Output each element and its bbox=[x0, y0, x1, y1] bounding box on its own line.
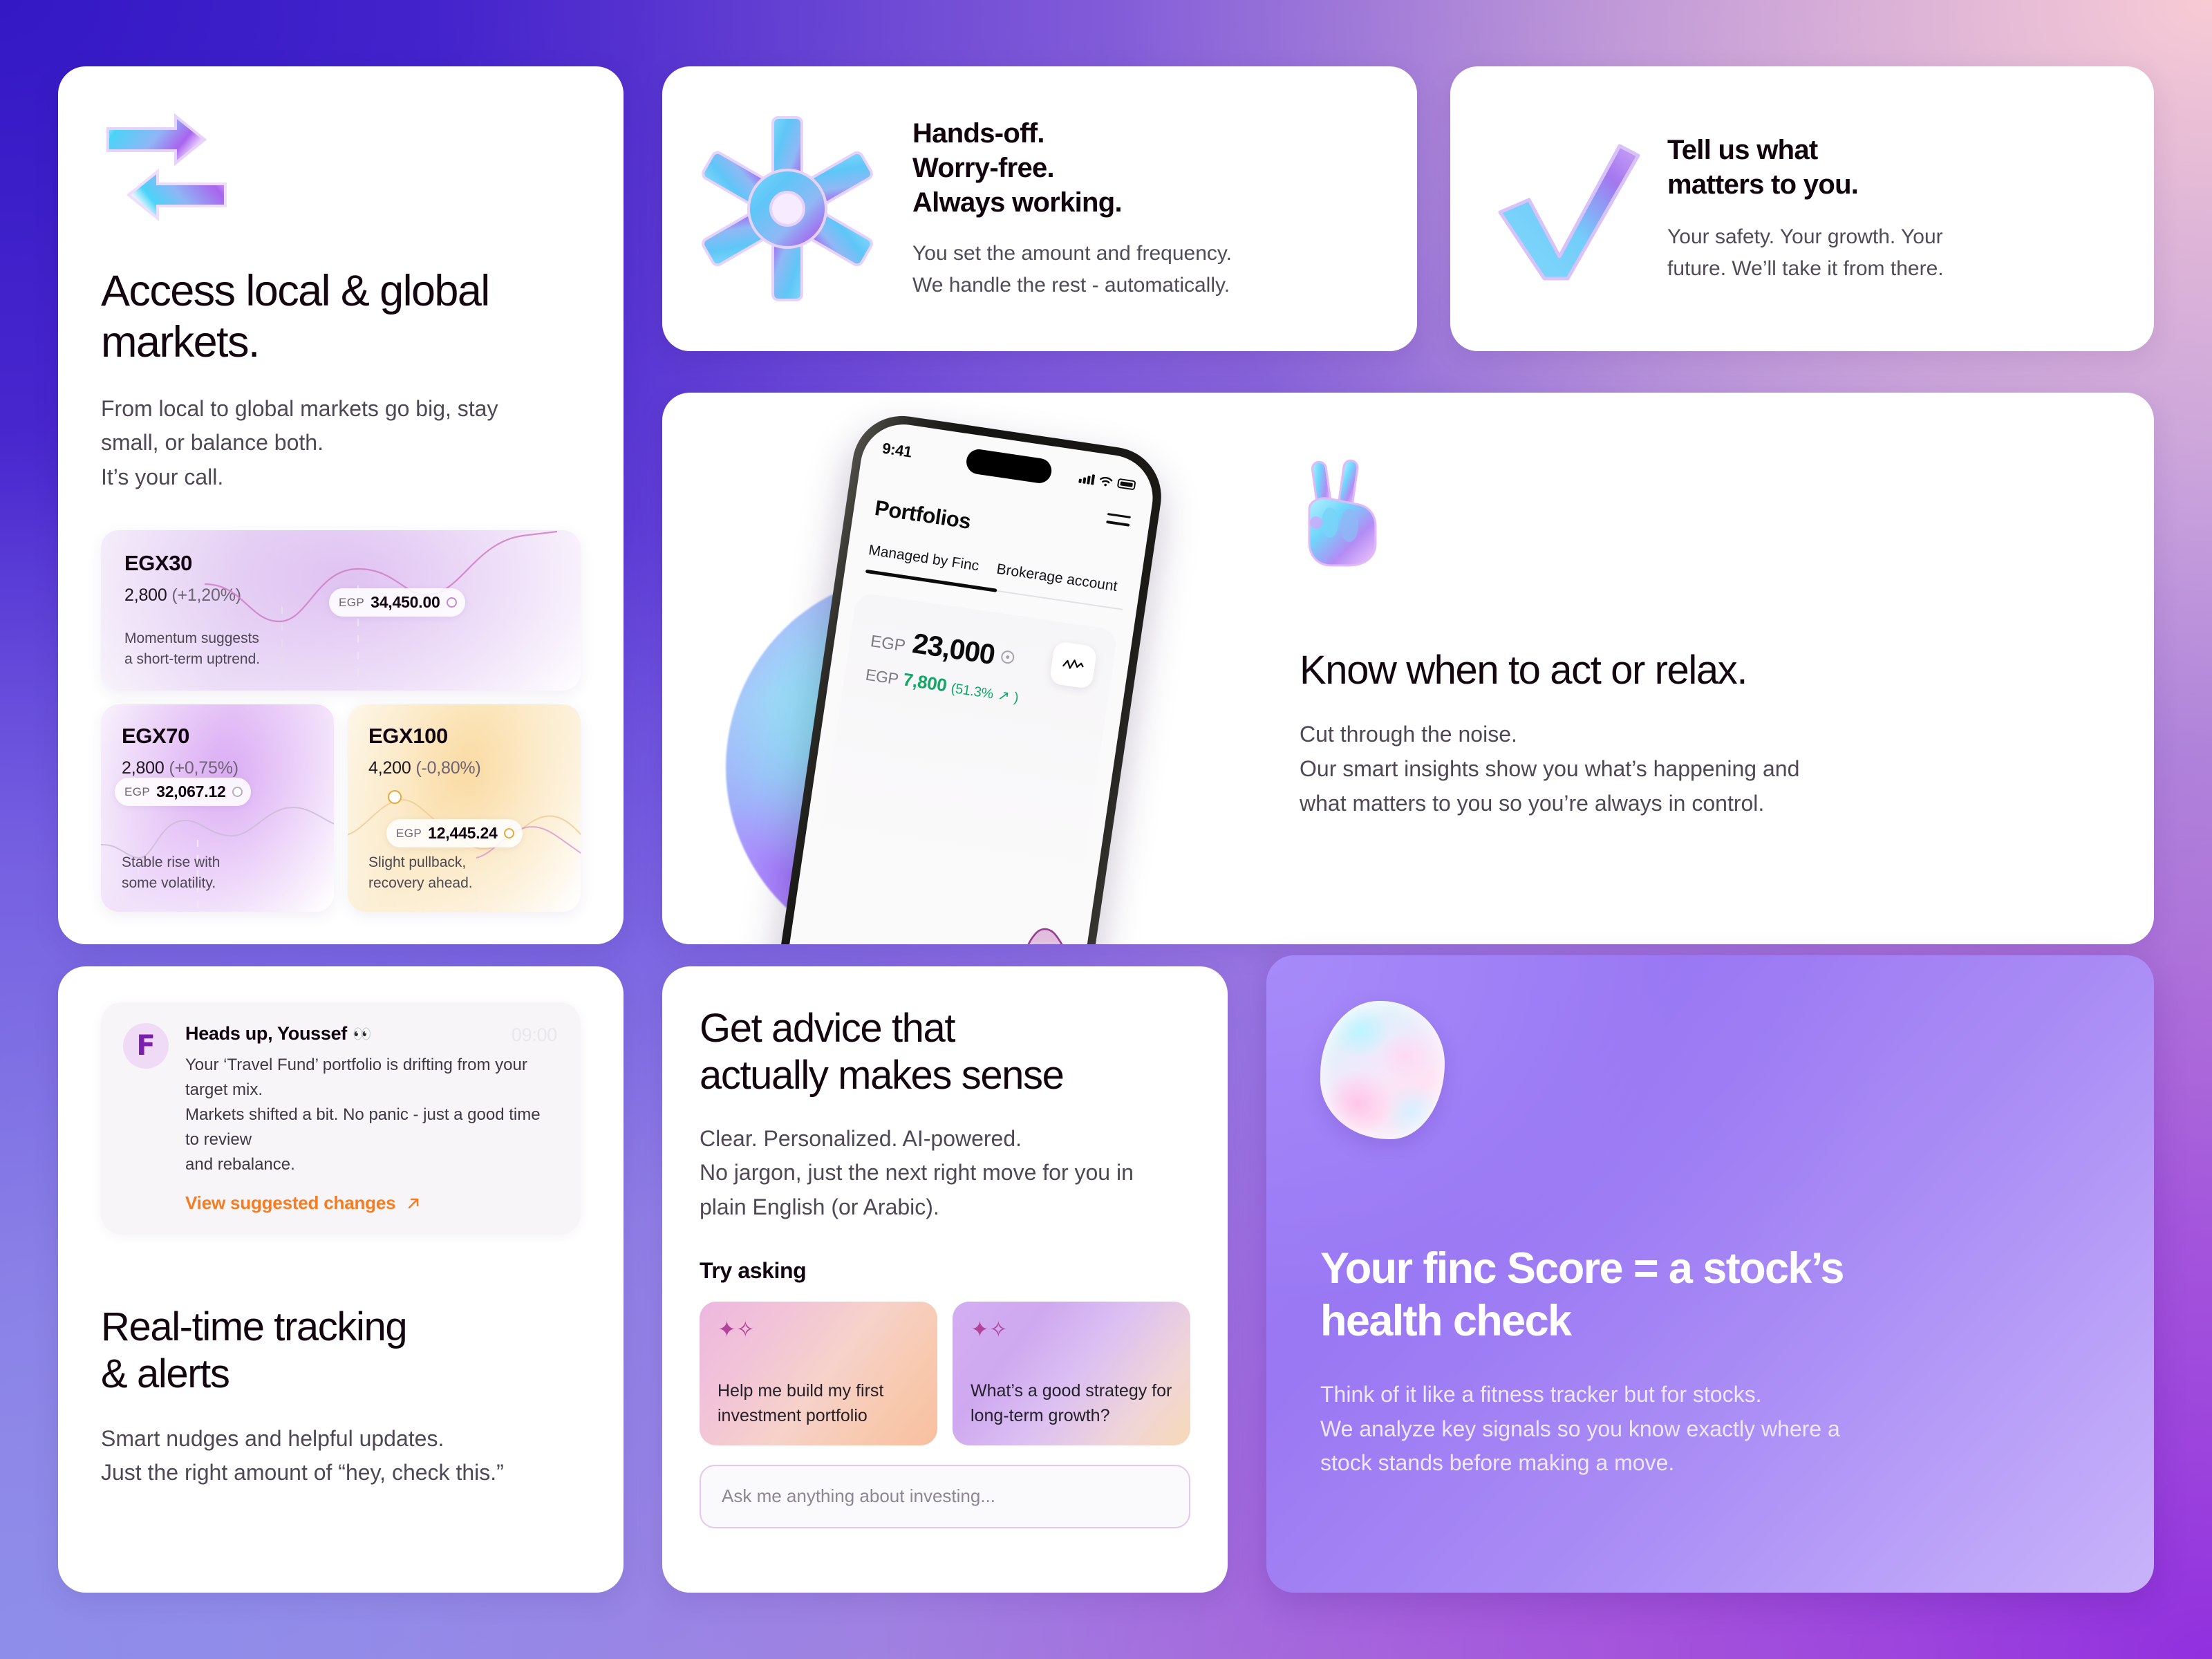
index-cards: EGX30 2,800 (+1,20%) EGP 34,450.00 Momen… bbox=[101, 530, 581, 912]
feature-grid: Access local & global markets. From loca… bbox=[0, 0, 2212, 1659]
suggestion-chip-1[interactable]: ✦✧ Help me build my first investment por… bbox=[700, 1302, 937, 1445]
index-card-egx70[interactable]: EGX70 2,800 (+0,75%) EGP 32,067.12 Stabl… bbox=[101, 704, 334, 912]
tab-brokerage-account[interactable]: Brokerage account bbox=[995, 561, 1118, 595]
advice-heading: Get advice that actually makes sense bbox=[700, 1005, 1190, 1100]
gain-amount: 7,800 bbox=[901, 669, 948, 696]
phone-mockup-area: 9:41 Po bbox=[662, 393, 1284, 944]
hamburger-menu-icon[interactable] bbox=[1105, 513, 1131, 532]
card-realtime-tracking: F Heads up, Youssef 👀 Your ‘Travel Fund’… bbox=[58, 966, 624, 1593]
balance-amount: 23,000 bbox=[910, 627, 997, 671]
index-note: Stable rise with some volatility. bbox=[122, 852, 220, 894]
chart-toggle-button[interactable] bbox=[1049, 641, 1097, 689]
finc-logo-avatar: F bbox=[123, 1023, 169, 1069]
markets-description: From local to global markets go big, sta… bbox=[101, 392, 581, 495]
tell-us-description: Your safety. Your growth. Your future. W… bbox=[1667, 221, 1944, 284]
gain-percent-close: ) bbox=[1013, 690, 1020, 706]
wifi-icon bbox=[1098, 475, 1114, 488]
status-time: 9:41 bbox=[881, 440, 913, 462]
data-point-marker bbox=[232, 787, 243, 797]
balance-currency: EGP bbox=[869, 632, 906, 656]
arrow-up-right-icon bbox=[405, 1195, 422, 1212]
know-heading: Know when to act or relax. bbox=[1300, 647, 2103, 694]
peace-hand-icon bbox=[1300, 459, 1391, 570]
try-asking-label: Try asking bbox=[700, 1258, 1190, 1284]
index-price-tag: EGP 34,450.00 bbox=[329, 588, 465, 617]
hands-off-copy: Hands-off. Worry-free. Always working. Y… bbox=[912, 116, 1232, 301]
hands-off-description: You set the amount and frequency. We han… bbox=[912, 238, 1232, 301]
swap-arrows-icon bbox=[101, 112, 232, 223]
phone-page-title: Portfolios bbox=[873, 496, 972, 534]
card-finc-score: Your finc Score = a stock’s health check… bbox=[1266, 955, 2154, 1593]
suggestion-chips: ✦✧ Help me build my first investment por… bbox=[700, 1302, 1190, 1445]
ask-input[interactable] bbox=[700, 1465, 1190, 1528]
notification-title: Heads up, Youssef 👀 bbox=[185, 1023, 557, 1044]
know-description: Cut through the noise. Our smart insight… bbox=[1300, 718, 2103, 821]
suggestion-chip-2[interactable]: ✦✧ What’s a good strategy for long-term … bbox=[953, 1302, 1190, 1445]
score-heading: Your finc Score = a stock’s health check bbox=[1320, 1243, 2100, 1347]
card-get-advice: Get advice that actually makes sense Cle… bbox=[662, 966, 1228, 1593]
notification-body: Your ‘Travel Fund’ portfolio is drifting… bbox=[185, 1053, 557, 1177]
index-card-egx100[interactable]: EGX100 4,200 (-0,80%) EGP 12,445.24 Slig… bbox=[348, 704, 581, 912]
index-price-tag: EGP 32,067.12 bbox=[115, 778, 251, 806]
phone-screen: 9:41 Po bbox=[776, 419, 1159, 944]
index-card-egx30[interactable]: EGX30 2,800 (+1,20%) EGP 34,450.00 Momen… bbox=[101, 530, 581, 691]
iridescent-blob-icon bbox=[1320, 1001, 1445, 1139]
eye-toggle-icon[interactable] bbox=[1000, 650, 1015, 665]
hands-off-heading: Hands-off. Worry-free. Always working. bbox=[912, 116, 1232, 220]
index-price-tag: EGP 12,445.24 bbox=[386, 819, 523, 847]
tell-us-copy: Tell us what matters to you. Your safety… bbox=[1667, 133, 1944, 284]
page-title: Access local & global markets. bbox=[101, 265, 581, 368]
gain-percent: (51.3% bbox=[950, 681, 994, 702]
card-hands-off: Hands-off. Worry-free. Always working. Y… bbox=[662, 66, 1417, 351]
sparkle-icon: ✦✧ bbox=[971, 1318, 1172, 1340]
checkmark-icon bbox=[1478, 122, 1651, 295]
notification-timestamp: 09:00 bbox=[512, 1024, 557, 1046]
tab-managed-by-finc[interactable]: Managed by Finc bbox=[868, 542, 980, 574]
card-know-when-to-act: 9:41 Po bbox=[662, 393, 2154, 944]
cellular-signal-icon bbox=[1078, 472, 1095, 485]
score-description: Think of it like a fitness tracker but f… bbox=[1320, 1378, 2100, 1481]
battery-icon bbox=[1117, 478, 1136, 491]
card-access-markets: Access local & global markets. From loca… bbox=[58, 66, 624, 944]
realtime-description: Smart nudges and helpful updates. Just t… bbox=[101, 1422, 581, 1490]
index-note: Slight pullback, recovery ahead. bbox=[368, 852, 473, 894]
phone-status-bar: 9:41 bbox=[862, 436, 1156, 497]
know-copy: Know when to act or relax. Cut through t… bbox=[1284, 393, 2154, 944]
notification-card[interactable]: F Heads up, Youssef 👀 Your ‘Travel Fund’… bbox=[101, 1002, 581, 1235]
tell-us-heading: Tell us what matters to you. bbox=[1667, 133, 1944, 202]
card-tell-us: Tell us what matters to you. Your safety… bbox=[1450, 66, 2154, 351]
data-point-marker bbox=[504, 828, 514, 838]
asterisk-icon bbox=[687, 109, 888, 309]
view-suggested-changes-link[interactable]: View suggested changes bbox=[185, 1192, 557, 1214]
portfolio-panel: EGP 23,000 EGP 7,800 (51.3% ↗ ) bbox=[791, 592, 1118, 944]
phone-device: 9:41 Po bbox=[766, 409, 1168, 944]
suggestion-chip-1-text: Help me build my first investment portfo… bbox=[718, 1378, 922, 1429]
advice-description: Clear. Personalized. AI-powered. No jarg… bbox=[700, 1122, 1190, 1225]
phone-tabs: Managed by Finc Brokerage account bbox=[868, 542, 1127, 597]
data-point-marker bbox=[447, 597, 457, 608]
index-note: Momentum suggests a short-term uptrend. bbox=[124, 628, 260, 671]
line-chart-icon bbox=[1061, 656, 1085, 674]
trend-up-icon: ↗ bbox=[997, 688, 1011, 704]
suggestion-chip-2-text: What’s a good strategy for long-term gro… bbox=[971, 1378, 1175, 1429]
gain-currency: EGP bbox=[865, 666, 900, 688]
realtime-heading: Real-time tracking & alerts bbox=[101, 1304, 581, 1398]
portfolio-area-chart bbox=[791, 835, 1095, 944]
eyes-emoji-icon: 👀 bbox=[353, 1025, 371, 1043]
sparkle-icon: ✦✧ bbox=[718, 1318, 919, 1340]
